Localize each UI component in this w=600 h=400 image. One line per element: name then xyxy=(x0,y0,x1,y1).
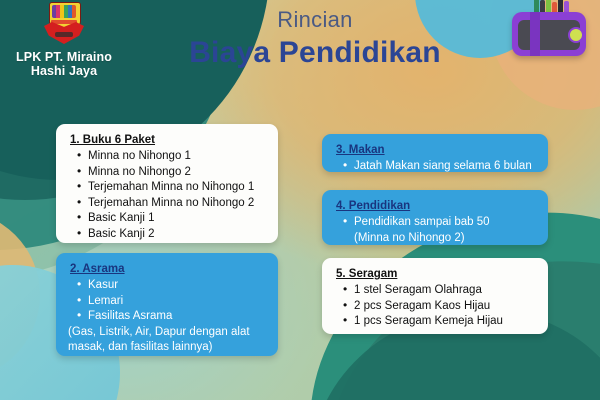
shield-emblem-icon xyxy=(44,2,84,48)
list-item: 2 pcs Seragam Kaos Hijau xyxy=(354,299,536,315)
list-item: Basic Kanji 2 xyxy=(88,227,266,243)
card-seragam: 5. Seragam 1 stel Seragam Olahraga 2 pcs… xyxy=(322,258,548,334)
list-item: Terjemahan Minna no Nihongo 1 xyxy=(88,180,266,196)
card-title: 4. Pendidikan xyxy=(336,199,536,213)
card-asrama: 2. Asrama Kasur Lemari Fasilitas Asrama … xyxy=(56,253,278,356)
poster-canvas: LPK PT. Miraino Hashi Jaya Rincian Biaya… xyxy=(0,0,600,400)
list-item: Kasur xyxy=(88,278,266,294)
poster-header: Rincian Biaya Pendidikan xyxy=(150,6,480,71)
list-item: 1 stel Seragam Olahraga xyxy=(354,283,536,299)
page-title: Biaya Pendidikan xyxy=(150,35,480,71)
card-title: 5. Seragam xyxy=(336,267,536,281)
card-item-list: Kasur Lemari Fasilitas Asrama xyxy=(68,278,266,325)
card-title: 3. Makan xyxy=(336,143,536,157)
list-item: Lemari xyxy=(88,294,266,310)
brand-name-line1: LPK PT. Miraino xyxy=(6,50,122,64)
brand-name-line2: Hashi Jaya xyxy=(6,64,122,78)
list-item: 1 pcs Seragam Kemeja Hijau xyxy=(354,314,536,330)
card-item-list: 1 stel Seragam Olahraga 2 pcs Seragam Ka… xyxy=(334,283,536,330)
list-item: Terjemahan Minna no Nihongo 2 xyxy=(88,196,266,212)
list-item: Jatah Makan siang selama 6 bulan xyxy=(354,159,536,175)
brand-logo-block: LPK PT. Miraino Hashi Jaya xyxy=(6,2,122,78)
card-item-list: Minna no Nihongo 1 Minna no Nihongo 2 Te… xyxy=(68,149,266,242)
card-title: 2. Asrama xyxy=(70,262,266,276)
list-item: Minna no Nihongo 2 xyxy=(88,165,266,181)
card-note: (Minna no Nihongo 2) xyxy=(334,231,536,247)
card-buku: 1. Buku 6 Paket Minna no Nihongo 1 Minna… xyxy=(56,124,278,243)
poster-subtitle: Rincian xyxy=(150,6,480,34)
list-item: Minna no Nihongo 1 xyxy=(88,149,266,165)
card-title: 1. Buku 6 Paket xyxy=(70,133,266,147)
list-item: Pendidikan sampai bab 50 xyxy=(354,215,536,231)
bottom-left-sand-circle xyxy=(0,210,40,380)
list-item: Basic Kanji 1 xyxy=(88,211,266,227)
card-note: (Gas, Listrik, Air, Dapur dengan alat ma… xyxy=(68,325,266,356)
card-item-list: Jatah Makan siang selama 6 bulan xyxy=(334,159,536,175)
card-makan: 3. Makan Jatah Makan siang selama 6 bula… xyxy=(322,134,548,172)
card-pendidikan: 4. Pendidikan Pendidikan sampai bab 50 (… xyxy=(322,190,548,245)
card-item-list: Pendidikan sampai bab 50 xyxy=(334,215,536,231)
list-item: Fasilitas Asrama xyxy=(88,309,266,325)
pencil-case-icon xyxy=(506,0,590,78)
